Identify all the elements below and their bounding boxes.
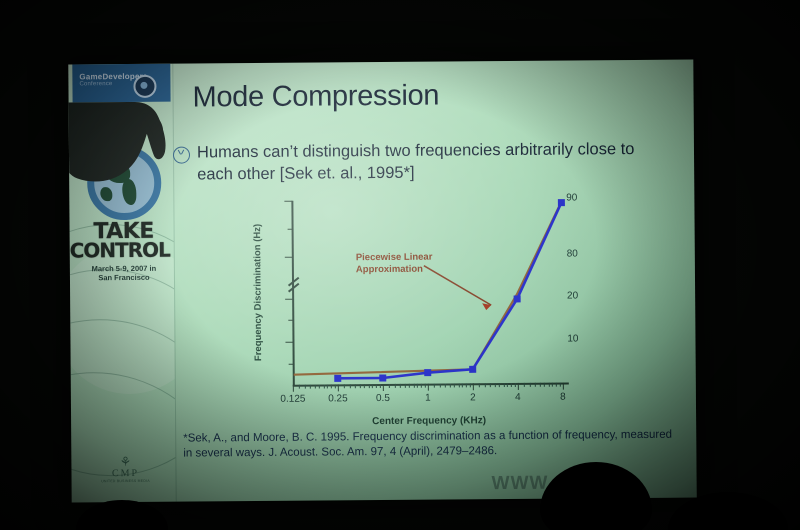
cmp-mark-icon: ⚘ (93, 456, 157, 469)
frequency-discrimination-chart: Frequency Discrimination (Hz) Center Fre… (247, 192, 579, 435)
audience-silhouette (668, 492, 788, 530)
bullet-item: Humans can’t distinguish two frequencies… (173, 138, 678, 142)
eye-logo-icon (133, 75, 156, 98)
slide-headline: TAKE CONTROL (74, 222, 174, 261)
audience-silhouette (76, 500, 168, 530)
measured-data-markers (333, 199, 566, 382)
annotation-leader-line (424, 265, 491, 311)
date-line2: San Francisco (74, 273, 174, 283)
hand-illustration (69, 98, 174, 204)
annotation-line2: Approximation (356, 264, 433, 277)
cmp-logo: ⚘ CMP UNITED BUSINESS MEDIA (93, 456, 157, 484)
cmp-subtitle: UNITED BUSINESS MEDIA (94, 479, 158, 484)
conference-name-line2: Conference (79, 81, 112, 87)
slide-footnote: *Sek, A., and Moore, B. C. 1995. Frequen… (183, 428, 681, 462)
chart-annotation: Piecewise Linear Approximation (356, 252, 433, 277)
measured-data-series (336, 203, 562, 379)
projected-slide: GameDevelopers Conference TAKE CONTROL M… (68, 60, 696, 503)
chart-plot-area (247, 192, 579, 435)
slide-sidebar-graphic: GameDevelopers Conference TAKE CONTROL M… (68, 64, 175, 503)
bullet-text: Humans can’t distinguish two frequencies… (197, 138, 667, 186)
cmp-name: CMP (93, 468, 157, 480)
slide-title: Mode Compression (192, 80, 439, 115)
photographed-slide-screenshot: GameDevelopers Conference TAKE CONTROL M… (0, 0, 800, 530)
headline-line2: CONTROL (68, 241, 174, 261)
bullet-marker-icon (173, 147, 190, 164)
conference-date: March 5-9, 2007 in San Francisco (74, 264, 174, 283)
gdc-banner: GameDevelopers Conference (72, 64, 170, 103)
annotation-line1: Piecewise Linear (356, 252, 433, 265)
